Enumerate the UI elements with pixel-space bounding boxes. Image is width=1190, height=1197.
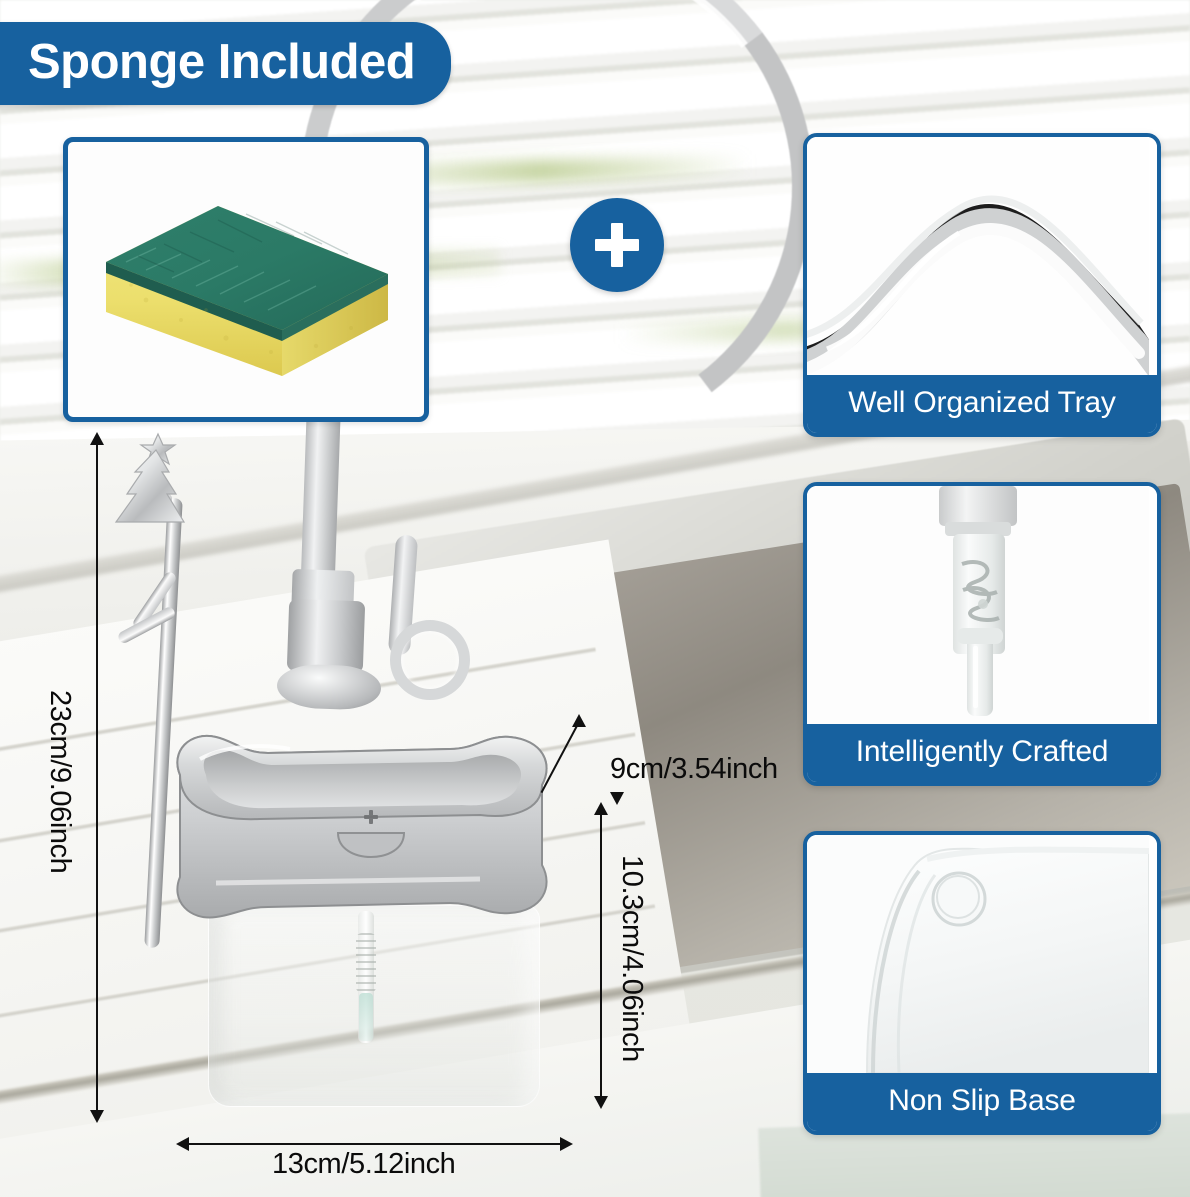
callout-intelligently-crafted: Intelligently Crafted (803, 482, 1161, 786)
dimension-line-body-height (600, 810, 602, 1106)
dimension-label-height: 23cm/9.06inch (43, 690, 76, 873)
dimension-arrow-up (572, 714, 586, 727)
callout-base-image (807, 835, 1157, 1073)
dimension-arrow-down (610, 792, 624, 805)
christmas-tree-icon (106, 432, 192, 536)
dimension-line-width (186, 1143, 562, 1145)
faucet-body (287, 599, 365, 674)
callout-base-label: Non Slip Base (807, 1073, 1157, 1131)
callout-non-slip-base: Non Slip Base (803, 831, 1161, 1135)
callout-well-organized-tray: Well Organized Tray (803, 133, 1161, 437)
dispenser-soap-liquid (359, 993, 373, 1041)
sponge-image (86, 170, 408, 392)
dimension-label-body-height: 10.3cm/4.06inch (615, 855, 648, 1062)
product-infographic: 23cm/9.06inch 9cm/3.54inch 10.3cm/4.06in… (0, 0, 1190, 1197)
soap-dispenser (150, 715, 590, 1115)
callout-tray-image (807, 137, 1157, 375)
title-badge: Sponge Included (0, 22, 451, 105)
callout-pump-label: Intelligently Crafted (807, 724, 1157, 782)
plus-icon-vertical-bar (611, 223, 623, 267)
dimension-line-height (96, 440, 98, 1120)
dimension-arrow-right (560, 1137, 573, 1151)
tray-rim-closeup (807, 137, 1149, 375)
faucet-handle-ring (390, 620, 470, 700)
callout-pump-image (807, 486, 1157, 724)
pump-mechanism-closeup (807, 486, 1149, 724)
sponge-inset-frame (63, 137, 429, 422)
dimension-arrow-down (90, 1110, 104, 1123)
non-slip-base-closeup (807, 835, 1149, 1073)
dispenser-pump-spring (356, 933, 376, 993)
plus-icon (570, 198, 664, 292)
dimension-arrow-up (90, 432, 104, 445)
dimension-label-depth: 9cm/3.54inch (610, 753, 778, 786)
callout-tray-label: Well Organized Tray (807, 375, 1157, 433)
dimension-label-width: 13cm/5.12inch (272, 1148, 455, 1181)
dispenser-sponge-tray (150, 715, 590, 930)
dimension-arrow-down (594, 1096, 608, 1109)
dimension-arrow-up (594, 802, 608, 815)
dimension-arrow-left (176, 1137, 189, 1151)
